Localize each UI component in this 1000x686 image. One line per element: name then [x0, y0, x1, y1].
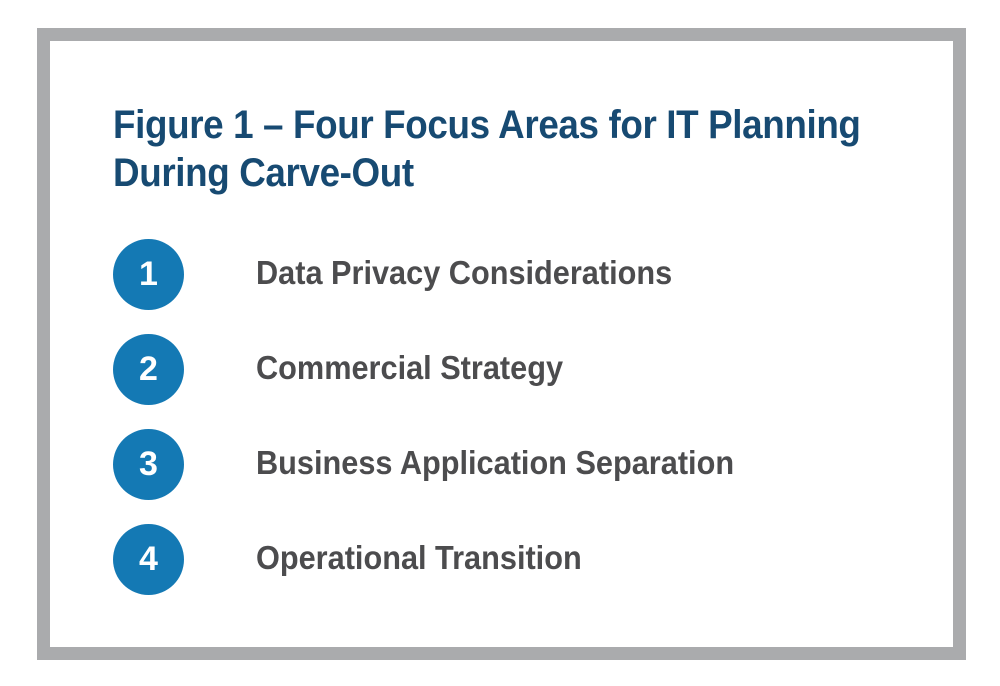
focus-area-item-1: 1 Data Privacy Considerations: [113, 237, 913, 332]
figure-title: Figure 1 – Four Focus Areas for IT Plann…: [113, 101, 840, 197]
figure-content-panel: Figure 1 – Four Focus Areas for IT Plann…: [50, 41, 953, 647]
focus-area-item-2: 2 Commercial Strategy: [113, 332, 913, 427]
figure-border-frame: Figure 1 – Four Focus Areas for IT Plann…: [37, 28, 966, 660]
figure-title-line-1: Figure 1 – Four Focus Areas for IT Plann…: [113, 101, 840, 149]
number-badge-1: 1: [113, 239, 184, 310]
focus-area-label-4: Operational Transition: [256, 536, 582, 580]
number-badge-4: 4: [113, 524, 184, 595]
focus-area-item-4: 4 Operational Transition: [113, 522, 913, 617]
focus-area-label-3: Business Application Separation: [256, 441, 734, 485]
focus-area-item-3: 3 Business Application Separation: [113, 427, 913, 522]
number-badge-3: 3: [113, 429, 184, 500]
figure-title-line-2: During Carve-Out: [113, 149, 840, 197]
focus-area-label-1: Data Privacy Considerations: [256, 251, 672, 295]
number-badge-2: 2: [113, 334, 184, 405]
focus-area-list: 1 Data Privacy Considerations 2 Commerci…: [113, 237, 913, 617]
focus-area-label-2: Commercial Strategy: [256, 346, 563, 390]
figure-root: Figure 1 – Four Focus Areas for IT Plann…: [0, 0, 1000, 686]
